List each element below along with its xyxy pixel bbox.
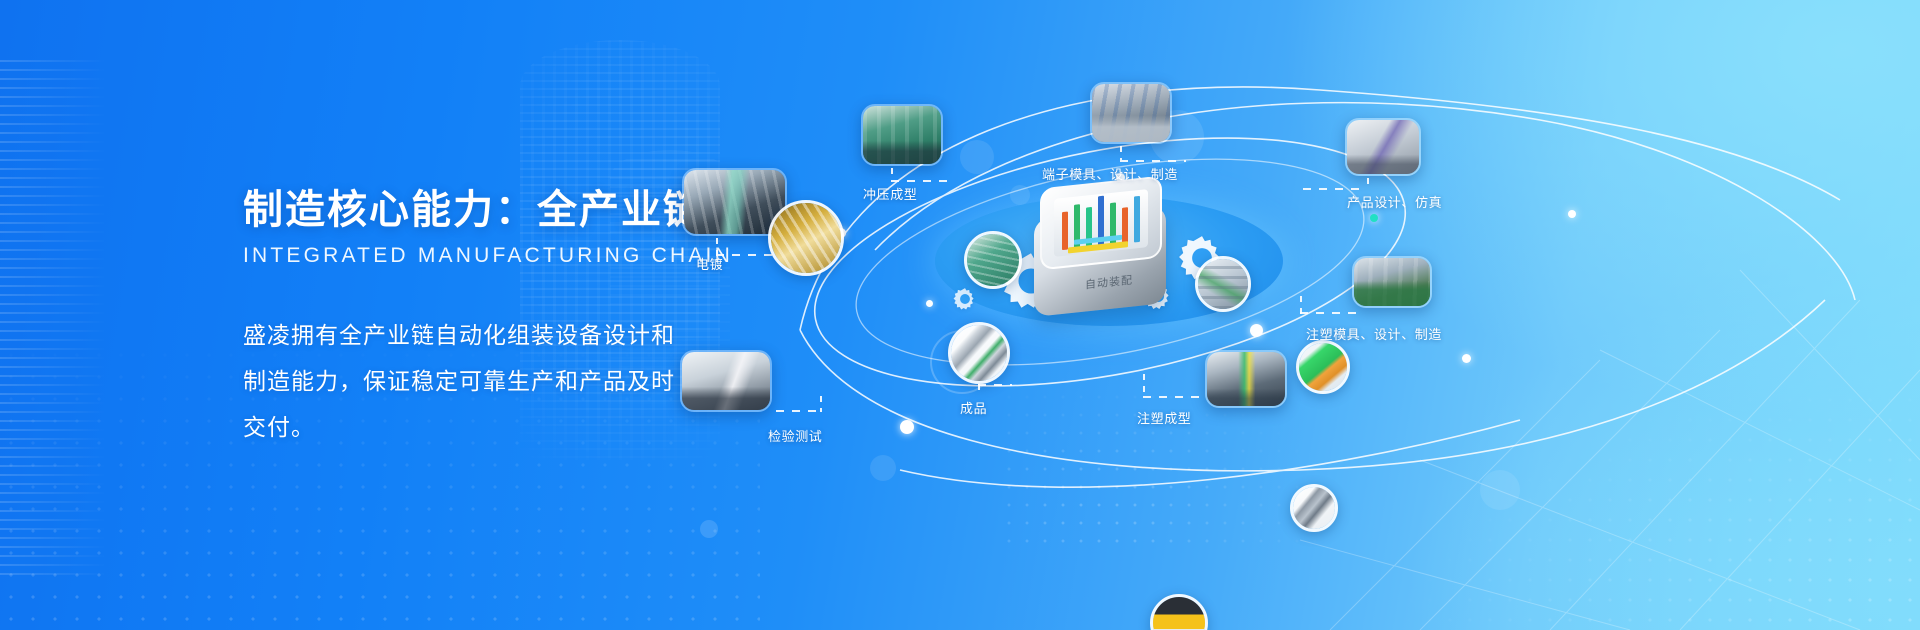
node-photo (1205, 350, 1287, 408)
node-injection-forming[interactable]: 注塑成型 (1205, 350, 1287, 408)
machine-internals (1054, 189, 1148, 257)
orbit-node-dot (1568, 210, 1576, 218)
page-title: 制造核心能力：全产业链 (243, 186, 713, 234)
orbit-node-dot (1370, 214, 1378, 222)
orbit-node-dot (1462, 354, 1471, 363)
node-electroplating-icon[interactable] (768, 200, 844, 276)
bubble-decor (700, 520, 718, 538)
stripe-grid-left (0, 60, 120, 580)
connector-dash (1120, 146, 1186, 162)
connector-dash (1143, 374, 1145, 398)
machine-part (1062, 211, 1068, 250)
node-finished-goods[interactable]: 成品 (948, 322, 1010, 384)
node-photo (861, 104, 943, 166)
headline-block: 制造核心能力：全产业链 INTEGRATED MANUFACTURING CHA… (243, 186, 713, 450)
node-label: 注塑模具、设计、制造 (1306, 324, 1442, 343)
node-terminal-mold[interactable]: 端子模具、设计、制造 (1090, 82, 1172, 144)
connector-dash (1303, 188, 1367, 190)
node-product-design[interactable]: 产品设计、仿真 (1345, 118, 1421, 176)
orbit-node-dot (1250, 324, 1263, 337)
connector-dash (776, 410, 822, 412)
node-label: 成品 (960, 398, 987, 417)
page-description: 盛凌拥有全产业链自动化组装设备设计和制造能力，保证稳定可靠生产和产品及时交付。 (243, 312, 683, 450)
node-injection-mold[interactable]: 注塑模具、设计、制造 (1352, 256, 1432, 308)
node-injection-mold-icon[interactable] (1290, 484, 1338, 532)
node-label: 检验测试 (768, 426, 822, 445)
node-photo (680, 350, 772, 412)
node-stamping-icon[interactable] (964, 231, 1022, 289)
node-injection-forming-icon[interactable] (1150, 594, 1208, 630)
automatic-assembly-machine: 自动装配 (1020, 168, 1180, 318)
node-label: 端子模具、设计、制造 (1042, 164, 1178, 183)
node-photo (948, 322, 1010, 384)
orbit-node-dot (926, 300, 933, 307)
node-stamping[interactable]: 冲压成型 (861, 104, 943, 166)
gear-icon (952, 286, 978, 312)
orbit-node-dot (900, 420, 914, 434)
orbit-paths (780, 0, 1920, 630)
connector-dash (1143, 396, 1207, 398)
connector-dash (978, 384, 1012, 386)
machine-part (1122, 207, 1128, 244)
node-photo (1090, 82, 1172, 144)
process-diagram: 自动装配 电镀 冲压成型 (780, 0, 1920, 630)
connector-dash (891, 168, 951, 182)
node-label: 注塑成型 (1137, 408, 1191, 427)
connector-dash (1300, 296, 1302, 314)
connector-dash (820, 396, 822, 412)
node-label: 冲压成型 (863, 184, 917, 203)
node-label: 电镀 (696, 254, 723, 273)
manufacturing-banner: 制造核心能力：全产业链 INTEGRATED MANUFACTURING CHA… (0, 0, 1920, 630)
connector-dash (1300, 312, 1356, 314)
node-photo (1345, 118, 1421, 176)
connector-dash (1367, 178, 1369, 192)
node-product-design-icon[interactable] (1296, 340, 1350, 394)
machine-part (1134, 196, 1140, 243)
node-inspection-test[interactable]: 检验测试 (680, 350, 772, 412)
page-subtitle: INTEGRATED MANUFACTURING CHAIN (243, 244, 713, 268)
node-terminal-mold-icon[interactable] (1195, 256, 1251, 312)
node-photo (1352, 256, 1432, 308)
node-label: 产品设计、仿真 (1347, 192, 1442, 211)
